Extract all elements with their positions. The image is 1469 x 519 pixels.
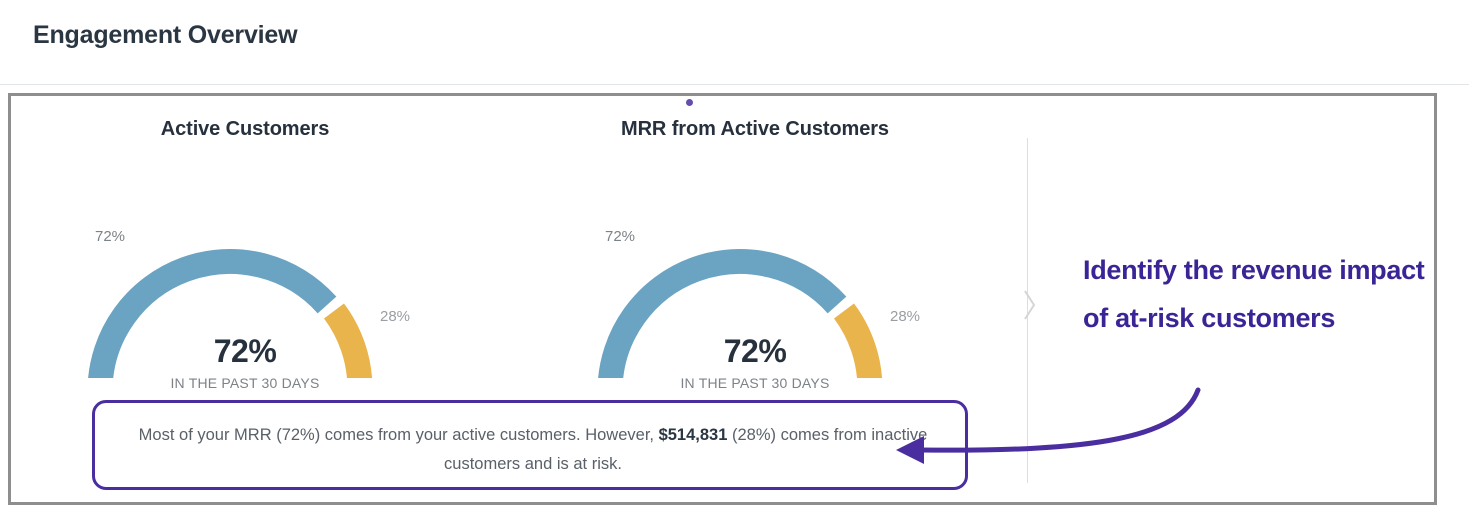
gauge-active-customers: 72% 28% 72% IN THE PAST 30 DAYS <box>0 153 505 378</box>
page-title: Engagement Overview <box>33 21 297 50</box>
gauge-label-active-pct: 72% <box>605 228 635 245</box>
chevron-right-icon[interactable] <box>1021 288 1037 322</box>
gauge-label-inactive-pct: 28% <box>890 308 920 325</box>
curved-arrow-pointing-left <box>880 370 1220 490</box>
gauge-label-active-pct: 72% <box>95 228 125 245</box>
gauge-label-inactive-pct: 28% <box>380 308 410 325</box>
gauge-mrr-from-active-customers: 72% 28% 72% IN THE PAST 30 DAYS <box>495 153 1015 378</box>
callout-line1-pre: Most of your MRR (72%) comes from your a… <box>139 426 659 444</box>
gauge-center-value: 72% <box>495 333 1015 370</box>
gauge-center-value: 72% <box>0 333 505 370</box>
gauge-card-mrr-from-active-customers: MRR from Active Customers 72% 28% 72% IN… <box>495 118 1015 388</box>
callout-line1-post: (28%) <box>727 426 776 444</box>
panel-marker-dot <box>686 99 693 106</box>
annotation-label: Identify the revenue impact of at-risk c… <box>1083 246 1443 342</box>
gauge-card-active-customers: Active Customers 72% 28% 72% IN THE PAST… <box>0 118 505 388</box>
gauge-title-active-customers: Active Customers <box>0 118 505 141</box>
gauge-center-subtitle: IN THE PAST 30 DAYS <box>0 375 505 391</box>
gauge-title-mrr-from-active-customers: MRR from Active Customers <box>495 118 1015 141</box>
page-header: Engagement Overview <box>0 0 1469 85</box>
callout-amount: $514,831 <box>659 426 728 444</box>
insight-callout-text: Most of your MRR (72%) comes from your a… <box>117 421 949 479</box>
insight-callout-box: Most of your MRR (72%) comes from your a… <box>92 400 968 490</box>
